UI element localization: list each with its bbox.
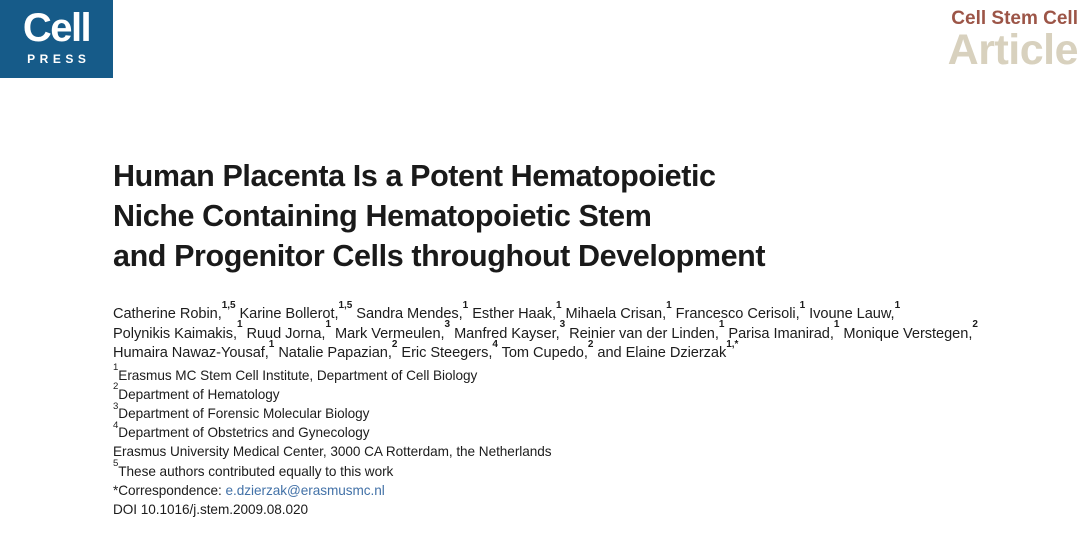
affiliation-text: Department of Forensic Molecular Biology	[118, 406, 369, 421]
article-type-label: Article	[948, 28, 1078, 72]
cell-press-logo-subword: PRESS	[0, 53, 113, 65]
author-affiliation-marker: 2	[588, 339, 594, 350]
author-label: Polynikis Kaimakis,	[113, 326, 237, 342]
page-title: Human Placenta Is a Potent Hematopoietic…	[113, 156, 1013, 276]
affiliation-block: 1Erasmus MC Stem Cell Institute, Departm…	[113, 366, 1013, 520]
paper-front-matter: Human Placenta Is a Potent Hematopoietic…	[113, 156, 1013, 519]
author-name: Mihaela Crisan,1	[565, 306, 671, 322]
author-label: Mihaela Crisan,	[565, 306, 666, 322]
author-name: Natalie Papazian,2	[278, 345, 397, 361]
affiliation-text: Department of Hematology	[118, 387, 279, 402]
author-affiliation-marker: 2	[972, 319, 978, 330]
author-label: Eric Steegers,	[401, 345, 492, 361]
correspondence-line: *Correspondence: e.dzierzak@erasmusmc.nl	[113, 481, 1013, 500]
author-affiliation-marker: 1	[666, 300, 672, 311]
author-label: Esther Haak,	[472, 306, 556, 322]
affiliation-marker: 4	[113, 420, 118, 431]
page-title-line-3: and Progenitor Cells throughout Developm…	[113, 236, 1013, 276]
author-affiliation-marker: 1	[463, 300, 469, 311]
affiliation-item: 1Erasmus MC Stem Cell Institute, Departm…	[113, 366, 1013, 385]
author-name: Catherine Robin,1,5	[113, 306, 235, 322]
author-name: Ivoune Lauw,1	[809, 306, 900, 322]
author-label: Humaira Nawaz-Yousaf,	[113, 345, 269, 361]
author-affiliation-marker: 1	[269, 339, 275, 350]
institution-address: Erasmus University Medical Center, 3000 …	[113, 442, 1013, 461]
author-affiliation-marker: 1,*	[726, 339, 738, 350]
correspondence-label: *Correspondence:	[113, 483, 226, 498]
author-name: Polynikis Kaimakis,1	[113, 326, 242, 342]
author-affiliation-marker: 3	[560, 319, 566, 330]
author-name: Karine Bollerot,1,5	[240, 306, 353, 322]
author-label: Ivoune Lauw,	[809, 306, 894, 322]
author-affiliation-marker: 1	[556, 300, 562, 311]
author-label: Francesco Cerisoli,	[676, 306, 800, 322]
affiliation-text: Erasmus MC Stem Cell Institute, Departme…	[118, 368, 477, 383]
author-affiliation-marker: 1	[237, 319, 243, 330]
author-label: Parisa Imanirad,	[728, 326, 833, 342]
author-label: Manfred Kayser,	[454, 326, 560, 342]
affiliation-marker: 2	[113, 381, 118, 392]
author-affiliation-marker: 1	[834, 319, 840, 330]
cell-press-logo-wordmark: Cell	[0, 8, 113, 48]
doi-text: DOI 10.1016/j.stem.2009.08.020	[113, 502, 308, 517]
author-label: Mark Vermeulen,	[335, 326, 445, 342]
author-name: Francesco Cerisoli,1	[676, 306, 805, 322]
doi-line: DOI 10.1016/j.stem.2009.08.020	[113, 500, 1013, 519]
author-label: Ruud Jorna,	[246, 326, 325, 342]
institution-address-text: Erasmus University Medical Center, 3000 …	[113, 444, 552, 459]
author-name: Sandra Mendes,1	[356, 306, 468, 322]
author-name: Tom Cupedo,2	[502, 345, 594, 361]
journal-branding: Cell Stem Cell Article	[948, 8, 1078, 72]
affiliation-text: Department of Obstetrics and Gynecology	[118, 425, 369, 440]
affiliation-item: 3Department of Forensic Molecular Biolog…	[113, 404, 1013, 423]
author-affiliation-marker: 3	[445, 319, 451, 330]
page-header: Cell PRESS Cell Stem Cell Article	[0, 0, 1080, 90]
cell-press-logo: Cell PRESS	[0, 0, 113, 78]
author-label: Natalie Papazian,	[278, 345, 392, 361]
page-title-line-2: Niche Containing Hematopoietic Stem	[113, 196, 1013, 236]
author-affiliation-marker: 2	[392, 339, 398, 350]
author-affiliation-marker: 1	[325, 319, 331, 330]
author-affiliation-marker: 1	[800, 300, 806, 311]
author-name: Manfred Kayser,3	[454, 326, 565, 342]
correspondence-email-link[interactable]: e.dzierzak@erasmusmc.nl	[226, 483, 385, 498]
author-name: Eric Steegers,4	[401, 345, 497, 361]
affiliation-marker: 1	[113, 362, 118, 373]
author-label: Monique Verstegen,	[843, 326, 972, 342]
author-label: Catherine Robin,	[113, 306, 222, 322]
affiliation-item: 4Department of Obstetrics and Gynecology	[113, 423, 1013, 442]
author-affiliation-marker: 1	[895, 300, 901, 311]
author-name: Monique Verstegen,2	[843, 326, 977, 342]
affiliation-marker: 3	[113, 401, 118, 412]
equal-contribution-marker: 5	[113, 458, 118, 469]
equal-contribution-note: 5These authors contributed equally to th…	[113, 462, 1013, 481]
author-list: Catherine Robin,1,5 Karine Bollerot,1,5 …	[113, 305, 993, 364]
author-affiliation-marker: 1,5	[222, 300, 236, 311]
author-label: Karine Bollerot,	[240, 306, 339, 322]
author-name: Esther Haak,1	[472, 306, 561, 322]
author-name: and Elaine Dzierzak1,*	[597, 345, 738, 361]
page-title-line-1: Human Placenta Is a Potent Hematopoietic	[113, 156, 1013, 196]
author-label: Tom Cupedo,	[502, 345, 588, 361]
author-affiliation-marker: 4	[492, 339, 498, 350]
affiliation-item: 2Department of Hematology	[113, 385, 1013, 404]
author-name: Parisa Imanirad,1	[728, 326, 839, 342]
equal-contribution-text: These authors contributed equally to thi…	[118, 464, 393, 479]
author-affiliation-marker: 1	[719, 319, 725, 330]
author-label: and Elaine Dzierzak	[597, 345, 726, 361]
author-affiliation-marker: 1,5	[338, 300, 352, 311]
author-name: Ruud Jorna,1	[246, 326, 330, 342]
author-name: Humaira Nawaz-Yousaf,1	[113, 345, 274, 361]
